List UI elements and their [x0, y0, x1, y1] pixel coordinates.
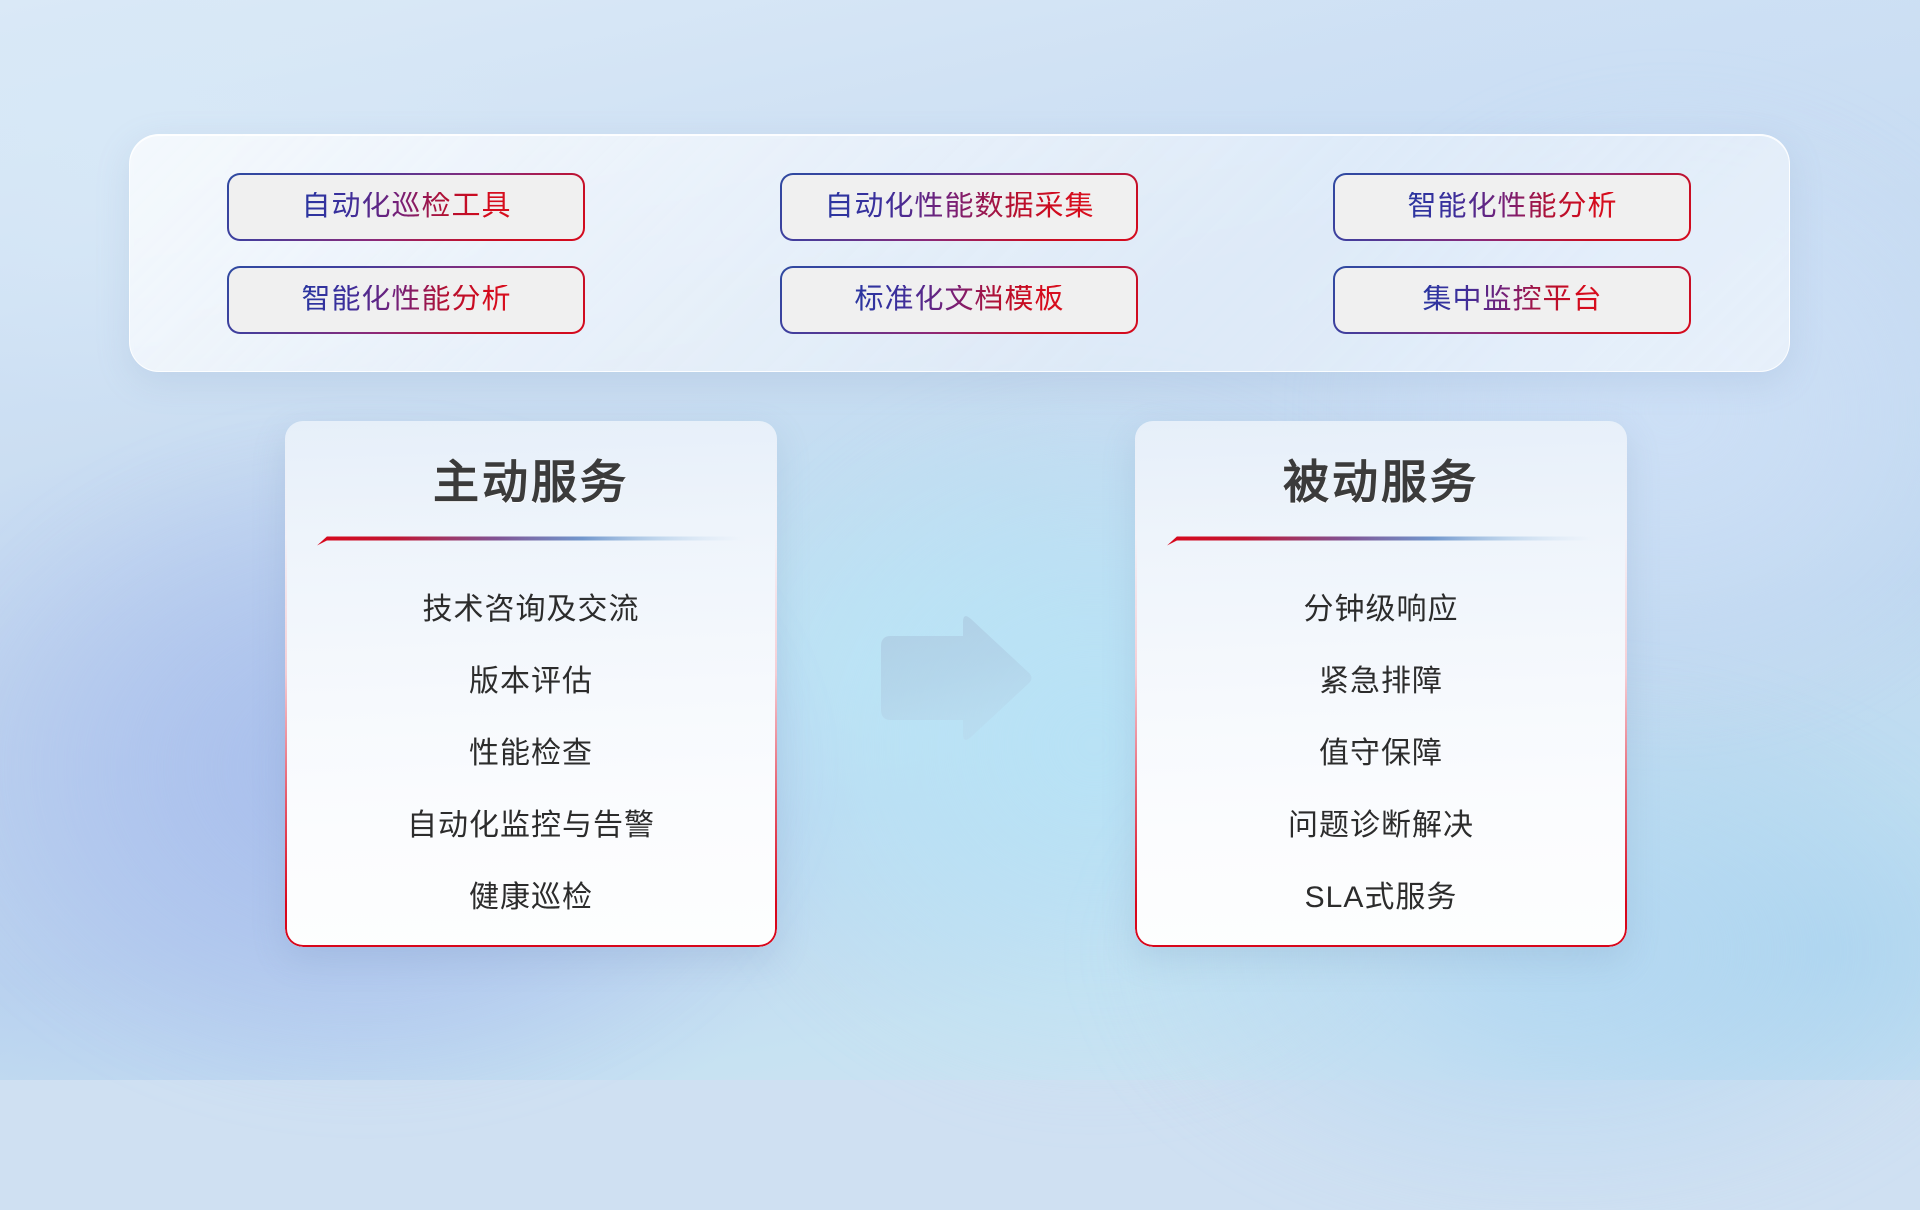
list-item[interactable]: 自动化监控与告警: [407, 790, 655, 862]
list-item[interactable]: 技术咨询及交流: [423, 574, 640, 646]
card-title-proactive: 主动服务: [315, 455, 747, 509]
list-item[interactable]: 版本评估: [469, 646, 593, 718]
capability-tag-label: 集中监控平台: [1422, 285, 1602, 314]
card-title-divider: [1167, 535, 1595, 546]
service-card-proactive: 主动服务 技术咨询及交流 版本评估 性能检查 自动化监控与告警 健康巡检: [285, 421, 777, 947]
capability-tags-panel: 自动化巡检工具 自动化性能数据采集 智能化性能分析 智能化性能分析 标准化文档模…: [129, 134, 1790, 372]
list-item[interactable]: 性能检查: [469, 718, 593, 790]
capability-tag-label: 标准化文档模板: [854, 285, 1064, 314]
capability-tag-cell: 自动化性能数据采集: [683, 173, 1236, 241]
list-item[interactable]: 值守保障: [1319, 718, 1443, 790]
list-item[interactable]: 健康巡检: [469, 862, 593, 934]
capability-tag-standardized-document-template[interactable]: 标准化文档模板: [780, 266, 1138, 334]
capability-tags-row-1: 自动化巡检工具 自动化性能数据采集 智能化性能分析: [130, 173, 1789, 241]
service-card-reactive: 被动服务 分钟级响应 紧急排障 值守保障 问题诊断解决 SLA式服务: [1135, 421, 1627, 947]
service-list-reactive: 分钟级响应 紧急排障 值守保障 问题诊断解决 SLA式服务: [1165, 574, 1597, 934]
capability-tag-cell: 集中监控平台: [1236, 266, 1789, 334]
capability-tag-label: 智能化性能分析: [301, 285, 511, 314]
list-item[interactable]: SLA式服务: [1305, 862, 1458, 934]
list-item[interactable]: 问题诊断解决: [1288, 790, 1474, 862]
list-item[interactable]: 分钟级响应: [1304, 574, 1459, 646]
card-title-reactive: 被动服务: [1165, 455, 1597, 509]
capability-tag-cell: 智能化性能分析: [1236, 173, 1789, 241]
capability-tag-centralized-monitoring-platform[interactable]: 集中监控平台: [1333, 266, 1691, 334]
capability-tag-cell: 智能化性能分析: [130, 266, 683, 334]
capability-tag-cell: 标准化文档模板: [683, 266, 1236, 334]
capability-tags-row-2: 智能化性能分析 标准化文档模板 集中监控平台: [130, 266, 1789, 334]
capability-tag-intelligent-performance-analysis-top[interactable]: 智能化性能分析: [1333, 173, 1691, 241]
capability-tag-automated-inspection-tool[interactable]: 自动化巡检工具: [227, 173, 585, 241]
capability-tag-automated-performance-data-collection[interactable]: 自动化性能数据采集: [780, 173, 1138, 241]
card-title-divider: [317, 535, 745, 546]
service-list-proactive: 技术咨询及交流 版本评估 性能检查 自动化监控与告警 健康巡检: [315, 574, 747, 934]
arrow-right-icon: [875, 614, 1035, 740]
capability-tag-label: 自动化巡检工具: [301, 192, 511, 221]
capability-tag-label: 自动化性能数据采集: [824, 192, 1094, 221]
capability-tag-cell: 自动化巡检工具: [130, 173, 683, 241]
capability-tag-label: 智能化性能分析: [1407, 192, 1617, 221]
capability-tag-intelligent-performance-analysis[interactable]: 智能化性能分析: [227, 266, 585, 334]
list-item[interactable]: 紧急排障: [1319, 646, 1443, 718]
